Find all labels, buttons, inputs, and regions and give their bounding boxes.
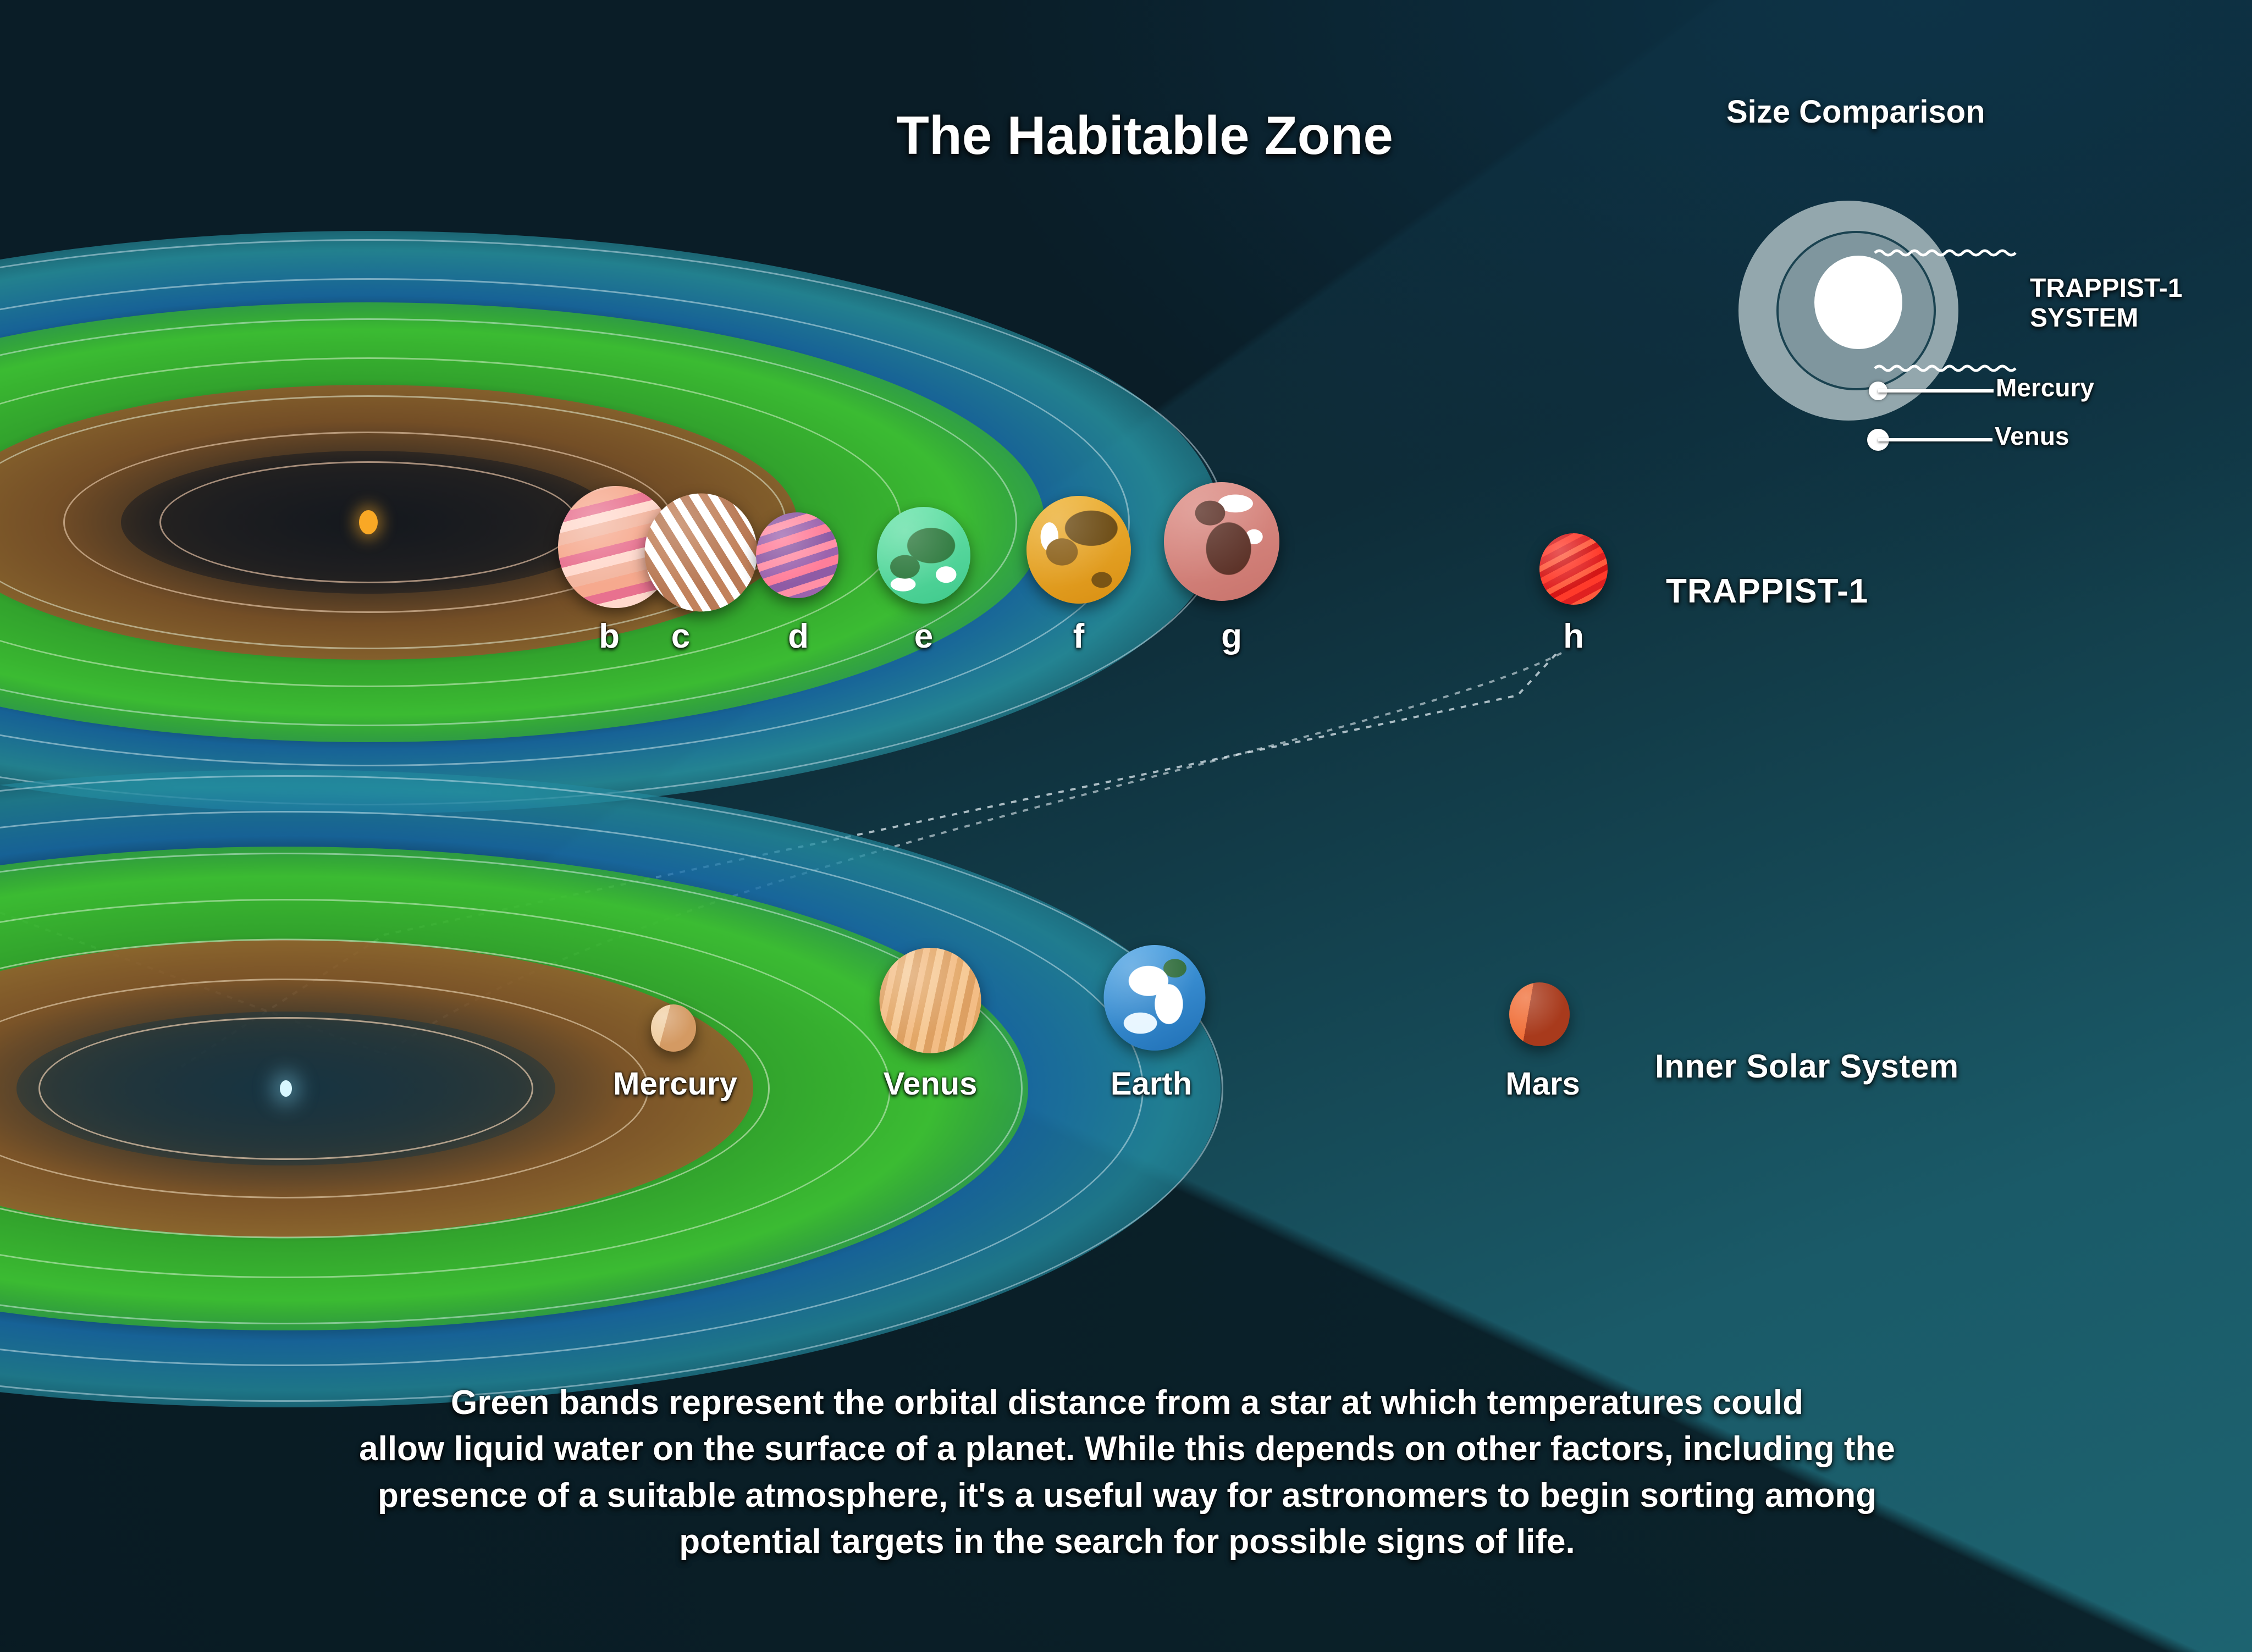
planet-label-mars: Mars [1505,1065,1580,1102]
planet-label-g: g [1221,617,1242,656]
planet-trappist-g[interactable] [1164,482,1279,601]
planet-label-c: c [671,617,690,656]
planet-label-b: b [599,617,620,656]
planet-label-d: d [788,617,809,656]
size-comparison-trappist-label: TRAPPIST-1 SYSTEM [2030,274,2182,333]
sun-star [280,1080,292,1097]
caption-line-1: Green bands represent the orbital distan… [143,1380,2111,1426]
planet-earth[interactable] [1104,945,1206,1051]
caption-block: Green bands represent the orbital distan… [143,1380,2111,1565]
planet-label-h: h [1563,617,1584,656]
planet-label-earth: Earth [1111,1065,1192,1102]
planet-label-mercury: Mercury [613,1065,737,1102]
planet-label-e: e [914,617,933,656]
solar-system-name: Inner Solar System [1655,1047,1959,1085]
caption-line-2: allow liquid water on the surface of a p… [143,1426,2111,1472]
planet-trappist-f[interactable] [1026,496,1131,604]
size-leader-venus [1878,438,1992,441]
planet-venus[interactable] [880,948,981,1053]
solar-system-disc [0,770,1221,1407]
planet-trappist-e[interactable] [877,507,970,604]
trappist-star [359,510,378,534]
planet-trappist-d[interactable] [756,512,838,598]
planet-label-venus: Venus [884,1065,978,1102]
size-label-mercury: Mercury [1996,374,2094,402]
planet-trappist-c[interactable] [645,494,758,612]
planet-mars[interactable] [1509,982,1570,1046]
trappist-system-name: TRAPPIST-1 [1666,572,1868,611]
planet-label-f: f [1073,617,1085,656]
caption-line-3: presence of a suitable atmosphere, it's … [143,1473,2111,1519]
infographic-root: b c d e f g h TRAPPIST-1 Mercury Venus E… [0,0,2252,1652]
size-leader-mercury [1878,389,1994,393]
trappist-label-line2: SYSTEM [2030,303,2138,333]
planet-trappist-h[interactable] [1539,533,1608,605]
page-title: The Habitable Zone [896,104,1393,167]
planet-mercury[interactable] [651,1004,696,1052]
trappist-label-line1: TRAPPIST-1 [2030,274,2182,303]
size-label-venus: Venus [1995,422,2069,451]
size-comparison-panel: Size Comparison TRAPPIST-1 SYSTEM Mercur… [1693,82,2249,467]
orbit-ring [0,775,1223,1402]
caption-line-4: potential targets in the search for poss… [143,1519,2111,1565]
